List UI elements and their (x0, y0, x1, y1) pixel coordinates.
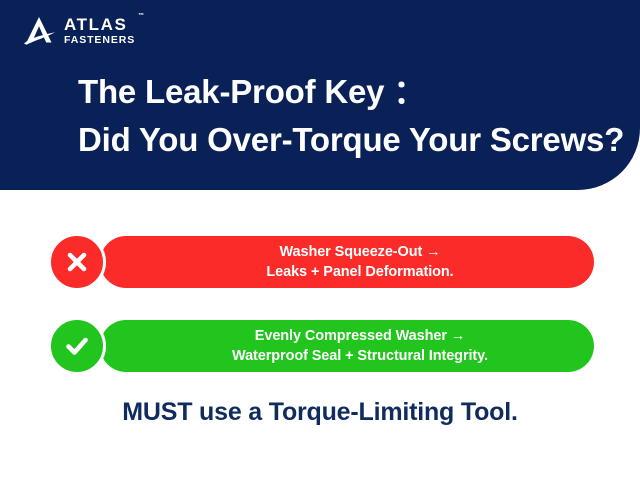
headline-line-1: The Leak-Proof Key ： (78, 68, 624, 116)
page-title: The Leak-Proof Key ： Did You Over-Torque… (78, 68, 624, 164)
positive-line-1: Evenly Compressed Washer → (255, 326, 465, 346)
outcome-row-negative: Washer Squeeze-Out → Leaks + Panel Defor… (0, 236, 640, 288)
positive-line-2: Waterproof Seal + Structural Integrity. (232, 346, 488, 366)
brand-name-top-text: ATLAS (64, 15, 127, 34)
positive-pill: Evenly Compressed Washer → Waterproof Se… (100, 320, 594, 372)
headline-line-2: Did You Over-Torque Your Screws? (78, 116, 624, 164)
cross-icon (48, 233, 106, 291)
negative-line-1: Washer Squeeze-Out → (279, 242, 440, 262)
brand-logo: ATLAS™ FASTENERS (22, 16, 135, 46)
trademark-symbol: ™ (138, 13, 144, 19)
atlas-triangle-swoosh-mark-icon (22, 16, 56, 46)
negative-pill: Washer Squeeze-Out → Leaks + Panel Defor… (100, 236, 594, 288)
check-icon (48, 317, 106, 375)
brand-name-bottom: FASTENERS (64, 35, 135, 46)
brand-wordmark: ATLAS™ FASTENERS (64, 16, 135, 46)
outcome-rows: Washer Squeeze-Out → Leaks + Panel Defor… (0, 236, 640, 404)
negative-line-2: Leaks + Panel Deformation. (266, 262, 453, 282)
outcome-row-positive: Evenly Compressed Washer → Waterproof Se… (0, 320, 640, 372)
brand-name-top: ATLAS™ (64, 16, 135, 33)
footer-tagline: MUST use a Torque-Limiting Tool. (0, 398, 640, 427)
